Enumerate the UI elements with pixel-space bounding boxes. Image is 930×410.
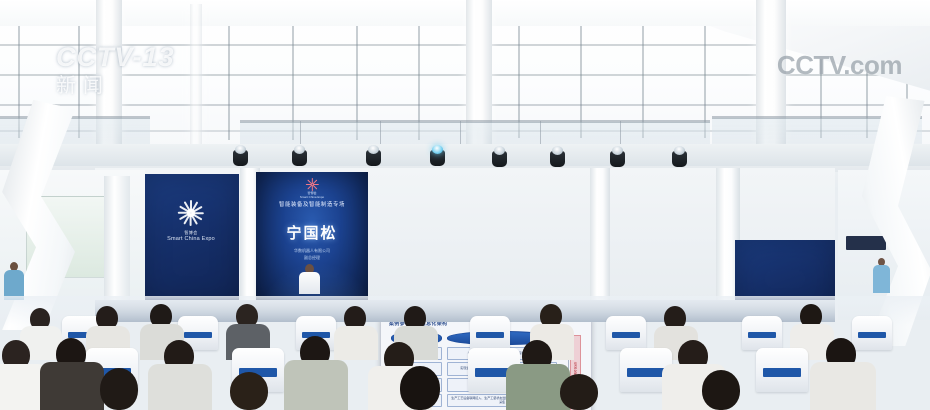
stage-light-fixture bbox=[672, 151, 687, 167]
site-watermark: CCTV.com bbox=[777, 52, 902, 78]
balcony-handrail bbox=[0, 116, 150, 118]
smart-china-expo-logo bbox=[176, 198, 206, 228]
channel-watermark: CCTV-13 新闻 bbox=[56, 44, 175, 97]
chair bbox=[606, 316, 646, 350]
attendee-head bbox=[702, 370, 740, 410]
balcony-baluster bbox=[380, 121, 381, 145]
chair bbox=[852, 316, 892, 350]
led-speaker-name-left: 宁国松 bbox=[256, 222, 368, 243]
hall-column bbox=[190, 4, 202, 144]
balcony-baluster bbox=[460, 121, 461, 145]
speaker-torso bbox=[299, 272, 320, 294]
window-mullion-vertical bbox=[518, 8, 520, 138]
attendee-head bbox=[100, 368, 138, 410]
stage-light-fixture bbox=[492, 151, 507, 167]
stage-light-fixture bbox=[233, 150, 248, 166]
stage-light-fixture bbox=[550, 151, 565, 167]
attendee-torso bbox=[810, 362, 876, 410]
led-session-title-left: 智能装备及智能制造专场 bbox=[256, 200, 368, 208]
attendee-torso bbox=[284, 360, 348, 410]
hall-column bbox=[104, 176, 130, 306]
expo-logo-en: Smart China Expo bbox=[167, 236, 215, 242]
window-mullion-horizontal bbox=[0, 104, 930, 106]
broadcast-frame: 智博会 Smart China Expo 智博会 Smart China Exp… bbox=[0, 0, 930, 410]
channel-watermark-text: CCTV-13 bbox=[56, 44, 175, 71]
balcony-baluster bbox=[540, 121, 541, 145]
expo-logo-text: 智博会 Smart China Expo bbox=[167, 230, 215, 242]
expo-burst-icon bbox=[305, 178, 318, 191]
balcony-parapet bbox=[0, 144, 930, 166]
balcony-baluster bbox=[620, 121, 621, 145]
attendee-head bbox=[560, 374, 598, 410]
stage-light-fixture-active bbox=[430, 150, 445, 166]
attendee-head bbox=[400, 366, 440, 410]
attendee-torso bbox=[40, 362, 104, 410]
floor-light-haze bbox=[0, 296, 930, 326]
chair bbox=[756, 348, 808, 392]
expo-burst-icon bbox=[176, 198, 206, 228]
window-mullion-vertical bbox=[704, 8, 706, 138]
staff-torso bbox=[873, 265, 890, 293]
stage-light-fixture bbox=[292, 150, 307, 166]
window-mullion-vertical bbox=[580, 8, 582, 138]
led-speaker-title-left: 副总经理 bbox=[256, 255, 368, 260]
attendee-torso bbox=[334, 326, 378, 360]
channel-watermark-subtitle: 新闻 bbox=[56, 73, 175, 97]
attendee-head bbox=[230, 372, 268, 410]
stage-divider-pillar bbox=[590, 168, 610, 308]
led-expo-logo-left: 智博会 Smart China Expo bbox=[300, 178, 324, 200]
stage-light-fixture bbox=[610, 151, 625, 167]
stage-light-fixture bbox=[366, 150, 381, 166]
led-speaker-org-left: 华数机器人有限公司 bbox=[256, 248, 368, 253]
chair bbox=[470, 316, 510, 350]
expo-banner-left: 智博会 Smart China Expo bbox=[143, 174, 239, 306]
balcony-handrail bbox=[240, 120, 710, 122]
chair bbox=[742, 316, 782, 350]
window-mullion-vertical bbox=[642, 8, 644, 138]
attendee-torso bbox=[148, 364, 212, 410]
ceiling-edge bbox=[0, 0, 930, 26]
balcony-baluster bbox=[300, 121, 301, 145]
exit-sign bbox=[846, 236, 886, 250]
